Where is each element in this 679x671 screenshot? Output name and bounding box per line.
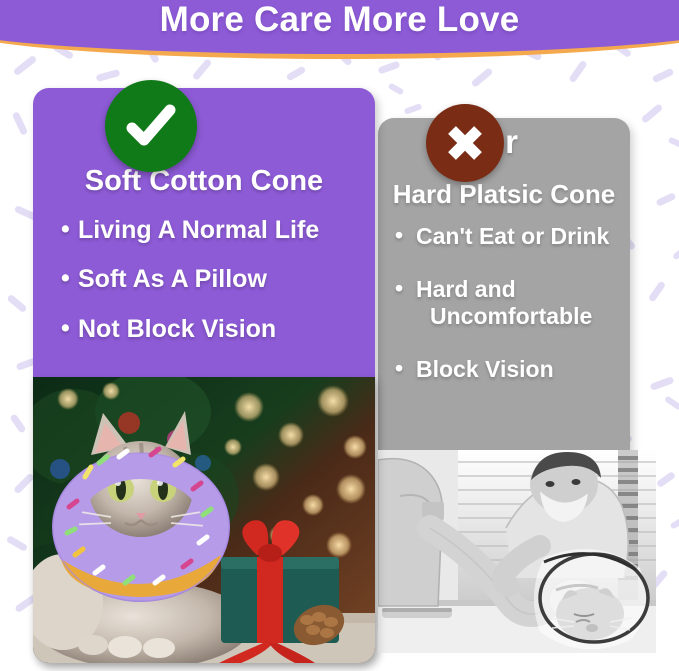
list-item-line: Can't Eat or Drink [416,223,609,249]
list-item: Block Vision [412,356,618,383]
list-item: Can't Eat or Drink [412,223,618,250]
other-subtitle: Hard Platsic Cone [378,180,630,209]
cross-mark-icon [443,121,487,165]
list-item: Not Block Vision [78,315,361,345]
list-item: Living A Normal Life [78,216,361,246]
our-subtitle: Soft Cotton Cone [33,166,375,198]
list-item-line: Uncomfortable [416,303,618,330]
our-heading-row: Our [33,88,375,160]
list-item-line: Block Vision [416,356,554,382]
check-mark-icon [123,98,179,154]
other-heading-row: Other [378,118,630,176]
comparison-panels: Our Soft Cotton Cone Living A Normal Lif… [0,0,679,671]
cat-with-donut-cone-image [33,377,375,663]
our-product-photo [33,377,375,663]
other-product-photo [378,450,656,653]
other-feature-list: Can't Eat or Drink Hard and Uncomfortabl… [378,223,630,384]
check-circle-icon [105,80,197,172]
page-title: More Care More Love [160,0,520,54]
x-circle-icon [426,104,504,182]
list-item: Soft As A Pillow [78,265,361,295]
list-item-line: Hard and [416,276,516,302]
list-item: Hard and Uncomfortable [412,276,618,330]
vet-with-plastic-cone-image [378,450,656,653]
header-banner: More Care More Love [0,0,679,59]
our-feature-list: Living A Normal Life Soft As A Pillow No… [33,216,375,345]
